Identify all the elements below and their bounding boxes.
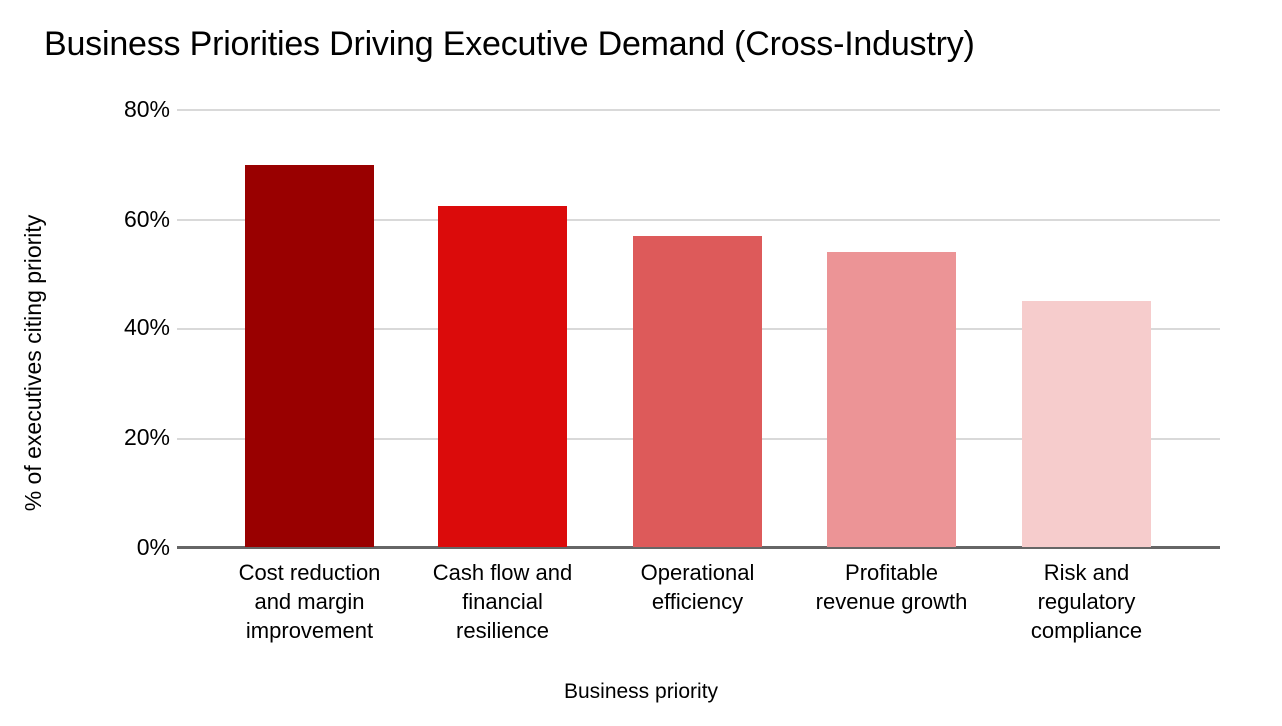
x-tick-line: resilience <box>405 616 600 645</box>
y-axis-tick-label-60: 60% <box>50 208 170 231</box>
x-tick-line: financial <box>405 587 600 616</box>
bar-risk-compliance[interactable] <box>1022 301 1151 547</box>
x-tick-line: Cost reduction <box>212 558 407 587</box>
x-tick-line: revenue growth <box>794 587 989 616</box>
x-axis-tick-label-operational-efficiency: Operational efficiency <box>600 558 795 616</box>
bar-cost-reduction[interactable] <box>245 165 374 547</box>
bar-cash-flow[interactable] <box>438 206 567 547</box>
y-axis-tick-label-80: 80% <box>50 98 170 121</box>
bar-operational-efficiency[interactable] <box>633 236 762 547</box>
bar-chart: Business Priorities Driving Executive De… <box>0 0 1282 726</box>
y-axis-tick-label-40: 40% <box>50 316 170 339</box>
bar-revenue-growth[interactable] <box>827 252 956 547</box>
plot-area <box>177 109 1220 547</box>
x-tick-line: and margin <box>212 587 407 616</box>
x-axis-tick-label-revenue-growth: Profitable revenue growth <box>794 558 989 616</box>
x-tick-line: Profitable <box>794 558 989 587</box>
x-axis-tick-label-cost-reduction: Cost reduction and margin improvement <box>212 558 407 645</box>
y-axis-tick-label-0: 0% <box>50 536 170 559</box>
x-axis-tick-label-cash-flow: Cash flow and financial resilience <box>405 558 600 645</box>
x-tick-line: compliance <box>989 616 1184 645</box>
x-axis-tick-label-risk-compliance: Risk and regulatory compliance <box>989 558 1184 645</box>
x-tick-line: Operational <box>600 558 795 587</box>
chart-title: Business Priorities Driving Executive De… <box>44 22 975 66</box>
y-axis-tick-label-20: 20% <box>50 426 170 449</box>
y-axis-title: % of executives citing priority <box>18 193 48 533</box>
x-tick-line: Risk and <box>989 558 1184 587</box>
x-axis-title: Business priority <box>0 679 1282 705</box>
x-tick-line: efficiency <box>600 587 795 616</box>
x-tick-line: improvement <box>212 616 407 645</box>
x-tick-line: Cash flow and <box>405 558 600 587</box>
gridline-80 <box>177 109 1220 111</box>
x-tick-line: regulatory <box>989 587 1184 616</box>
